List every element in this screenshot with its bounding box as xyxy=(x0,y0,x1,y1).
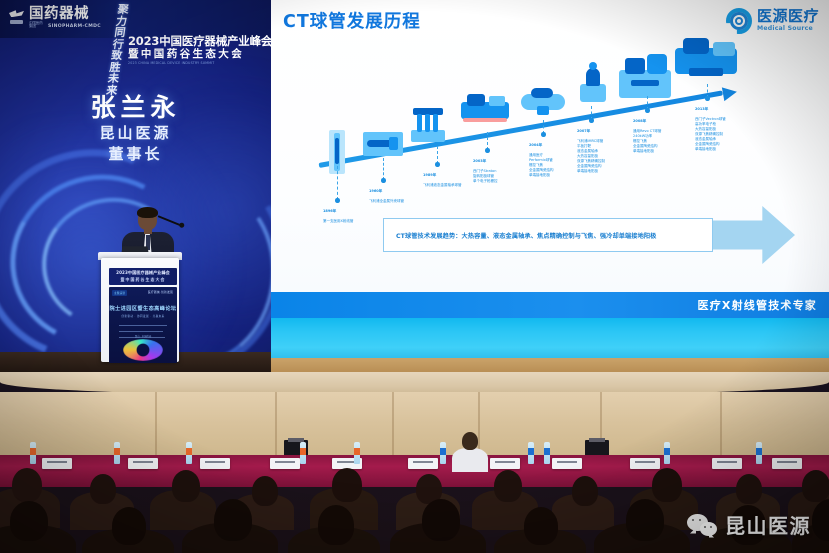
audience-head xyxy=(652,468,682,502)
timeline-year: 2013年 xyxy=(695,107,753,112)
timeline-text: 西门子Vectron球管 高功率电子枪 大热容量阳极 双源飞焦精确控制 液态金属… xyxy=(695,117,726,151)
podium-screen-rule xyxy=(119,331,163,332)
table-nameplate xyxy=(42,458,72,469)
medical-source-logo-cn: 医源医疗 xyxy=(757,9,819,24)
timeline-label-1989: 1989年 飞利浦液态金属轴承球管 xyxy=(423,168,473,188)
timeline-label-2007: 2007年 飞利浦iMRC球管 平板打靶 液态金属轴承 大热容量阳极 双源飞焦精… xyxy=(577,124,633,174)
event-banner-strip: 国药器械 中国医药集团 SINOPHARM-CMDC 聚力同行 致胜未来 202… xyxy=(0,0,271,38)
sinopharm-logo-subrow: 中国医药集团 SINOPHARM-CMDC xyxy=(29,22,101,30)
podium-screen-tag-secondary: 医疗器械·创新发展 xyxy=(148,290,173,294)
podium-header-line-1: 2023中国医疗器械产业峰会 xyxy=(116,270,170,276)
audience-head xyxy=(252,476,278,506)
speaker-organization: 昆山医源 xyxy=(0,122,271,143)
wechat-bubble-small xyxy=(700,522,717,536)
audience-row-1 xyxy=(0,470,829,510)
summit-title-block: 聚力同行 致胜未来 2023中国医疗器械产业峰会 暨中国药谷生态大会 2023 … xyxy=(112,4,272,96)
product-image-2008 xyxy=(619,52,671,98)
timeline-text: 通用Revo CT球管 240kW功率 栅控飞焦 全金属陶瓷结构 单端接地阳极 xyxy=(633,129,661,153)
table-nameplate xyxy=(200,458,230,469)
timeline-year: 2007年 xyxy=(577,129,633,134)
podium-screen-subtitle: 创新驱动 · 协同发展 · 共赢未来 xyxy=(109,314,177,318)
timeline-dot xyxy=(541,132,546,137)
water-bottle xyxy=(544,442,550,464)
timeline-text: 飞利浦全金属外壳球管 xyxy=(369,199,404,203)
audience-head xyxy=(12,468,42,502)
summit-line-2: 暨中国药谷生态大会 xyxy=(128,49,272,61)
audience-head xyxy=(494,470,522,502)
slide-footer-text: 医疗X射线管技术专家 xyxy=(698,297,829,313)
sinopharm-badge: 中国医药集团 xyxy=(29,22,45,30)
callout-arrow-shape xyxy=(709,206,795,264)
podium-screen-tag: 主题演讲 xyxy=(112,290,127,296)
conference-photo: 张兰永 昆山医源 董事长 国药器械 中国医药集团 SINOPHARM-CMDC … xyxy=(0,0,829,553)
timeline-dropline xyxy=(383,158,384,180)
timeline-text: 第一支医用X射线管 xyxy=(323,219,353,223)
audience-head xyxy=(10,501,48,541)
summit-line-3: 2023 CHINA MEDICAL DEVICE INDUSTRY SUMMI… xyxy=(128,61,272,65)
slide-footer-bar: 医疗X射线管技术专家 xyxy=(271,292,829,318)
medical-source-logo-text: 医源医疗 Medical Source xyxy=(757,9,819,32)
table-nameplate xyxy=(490,458,520,469)
timeline-year: 2003年 xyxy=(473,159,525,164)
speaker-hair xyxy=(137,207,158,218)
product-image-2004 xyxy=(521,88,565,116)
summit-line-1: 2023中国医疗器械产业峰会 xyxy=(128,35,272,48)
audience-head xyxy=(90,474,116,504)
podium-screen-graphic xyxy=(123,339,163,361)
timeline-year: 1960年 xyxy=(369,189,423,194)
seated-person-body xyxy=(452,448,488,472)
water-bottle xyxy=(440,442,446,464)
table-nameplate xyxy=(630,458,660,469)
sinopharm-logo-text: 国药器械 中国医药集团 SINOPHARM-CMDC xyxy=(29,7,101,29)
audience-head xyxy=(318,505,354,545)
medical-source-mark-icon xyxy=(726,8,752,34)
summit-lines: 2023中国医疗器械产业峰会 暨中国药谷生态大会 2023 CHINA MEDI… xyxy=(128,35,272,65)
podium-header-banner: 2023中国医疗器械产业峰会 暨中国药谷生态大会 xyxy=(109,268,177,285)
product-image-1989 xyxy=(411,108,445,142)
water-bottle xyxy=(664,442,670,464)
callout-text: CT球管技术发展趋势：大热容量、液态金属轴承、焦点精确控制与飞焦、强冷却单端接地… xyxy=(384,231,656,240)
water-bottle xyxy=(756,442,762,464)
water-bottle xyxy=(186,442,192,464)
timeline-label-1960: 1960年 飞利浦全金属外壳球管 xyxy=(369,184,423,204)
product-image-2007 xyxy=(576,62,610,102)
medical-source-logo-en: Medical Source xyxy=(757,26,819,32)
podium-body: 2023中国医疗器械产业峰会 暨中国药谷生态大会 主题演讲 医疗器械·创新发展 … xyxy=(101,258,179,362)
sinopharm-mark-icon xyxy=(8,8,25,28)
timeline-arrow-head xyxy=(722,85,738,101)
watermark: 昆山医源 xyxy=(687,510,811,539)
audience-head xyxy=(802,470,829,502)
podium-screen-rule xyxy=(119,325,167,326)
timeline-year: 1896年 xyxy=(323,209,375,214)
audience-head xyxy=(214,499,252,541)
slide-title: CT球管发展历程 xyxy=(283,8,421,33)
podium: 2023中国医疗器械产业峰会 暨中国药谷生态大会 主题演讲 医疗器械·创新发展 … xyxy=(98,252,182,364)
timeline-dot xyxy=(435,162,440,167)
podium-screen-title: 院士进园区暨生态高峰论坛 xyxy=(109,305,177,312)
timeline-label-1896: 1896年 第一支医用X射线管 xyxy=(323,204,375,224)
timeline-dot xyxy=(335,198,340,203)
table-nameplate xyxy=(712,458,742,469)
timeline-year: 2008年 xyxy=(633,119,689,124)
table-nameplate xyxy=(772,458,802,469)
table-nameplate xyxy=(270,458,300,469)
stage-apron xyxy=(271,358,829,372)
sinopharm-logo-cn: 国药器械 xyxy=(29,7,101,22)
podium-screen: 主题演讲 医疗器械·创新发展 院士进园区暨生态高峰论坛 创新驱动 · 协同发展 … xyxy=(109,287,177,363)
sinopharm-logo: 国药器械 中国医药集团 SINOPHARM-CMDC xyxy=(8,7,101,29)
timeline-year: 2004年 xyxy=(529,143,583,148)
timeline-dot xyxy=(645,108,650,113)
audience-head xyxy=(172,470,200,502)
podium-header-line-2: 暨中国药谷生态大会 xyxy=(121,277,166,283)
audience-head xyxy=(332,468,362,502)
timeline-year: 1989年 xyxy=(423,173,473,178)
timeline-dot xyxy=(589,118,594,123)
table-nameplate xyxy=(128,458,158,469)
audience-head xyxy=(736,474,762,504)
audience-head xyxy=(524,507,558,545)
water-bottle xyxy=(300,442,306,464)
wechat-icon xyxy=(687,514,717,536)
timeline-dropline xyxy=(337,166,338,200)
audience-head xyxy=(422,499,460,541)
product-image-2003 xyxy=(461,92,509,122)
table-nameplate xyxy=(552,458,582,469)
timeline-label-2008: 2008年 通用Revo CT球管 240kW功率 栅控飞焦 全金属陶瓷结构 单… xyxy=(633,114,689,154)
timeline-label-2003: 2003年 西门子Straton 旋转阳极球管 单个电子枪栅控 xyxy=(473,154,525,184)
timeline-text: 西门子Straton 旋转阳极球管 单个电子枪栅控 xyxy=(473,169,498,183)
product-image-2013 xyxy=(675,38,737,80)
water-bottle xyxy=(354,442,360,464)
sinopharm-logo-en: SINOPHARM-CMDC xyxy=(48,24,101,29)
timeline-text: 飞利浦iMRC球管 平板打靶 液态金属轴承 大热容量阳极 双源飞焦精确控制 全金… xyxy=(577,139,605,173)
timeline-text: 飞利浦液态金属轴承球管 xyxy=(423,183,462,187)
watermark-text: 昆山医源 xyxy=(725,510,811,539)
timeline-dot xyxy=(381,178,386,183)
timeline-label-2013: 2013年 西门子Vectron球管 高功率电子枪 大热容量阳极 双源飞焦精确控… xyxy=(695,102,753,152)
lower-led-band xyxy=(271,318,829,372)
podium-screen-footer: 昆山 · 中国药谷 xyxy=(109,334,177,338)
timeline-dot xyxy=(485,148,490,153)
timeline-text: 通用医疗 Performix球管 栅控飞焦 全金属陶瓷结构 单端接地阳极 xyxy=(529,153,554,177)
audience-head xyxy=(812,499,829,541)
audience-head xyxy=(572,476,598,506)
water-bottle xyxy=(30,442,36,464)
medical-source-logo: 医源医疗 Medical Source xyxy=(726,8,819,34)
callout-box: CT球管技术发展趋势：大热容量、液态金属轴承、焦点精确控制与飞焦、强冷却单端接地… xyxy=(383,218,713,252)
water-bottle xyxy=(528,442,534,464)
timeline-dot xyxy=(705,96,710,101)
audience-head xyxy=(112,507,146,545)
table-nameplate xyxy=(408,458,438,469)
product-image-1960 xyxy=(363,132,403,156)
speaker-title: 董事长 xyxy=(0,143,271,164)
audience-head xyxy=(626,499,664,541)
timeline-label-2004: 2004年 通用医疗 Performix球管 栅控飞焦 全金属陶瓷结构 单端接地… xyxy=(529,138,583,178)
seated-person-head xyxy=(462,432,478,450)
water-bottle xyxy=(114,442,120,464)
logo-center-dot xyxy=(735,17,743,25)
presentation-slide: CT球管发展历程 医源医疗 Medical Source xyxy=(271,0,829,318)
door-sign xyxy=(589,438,605,442)
